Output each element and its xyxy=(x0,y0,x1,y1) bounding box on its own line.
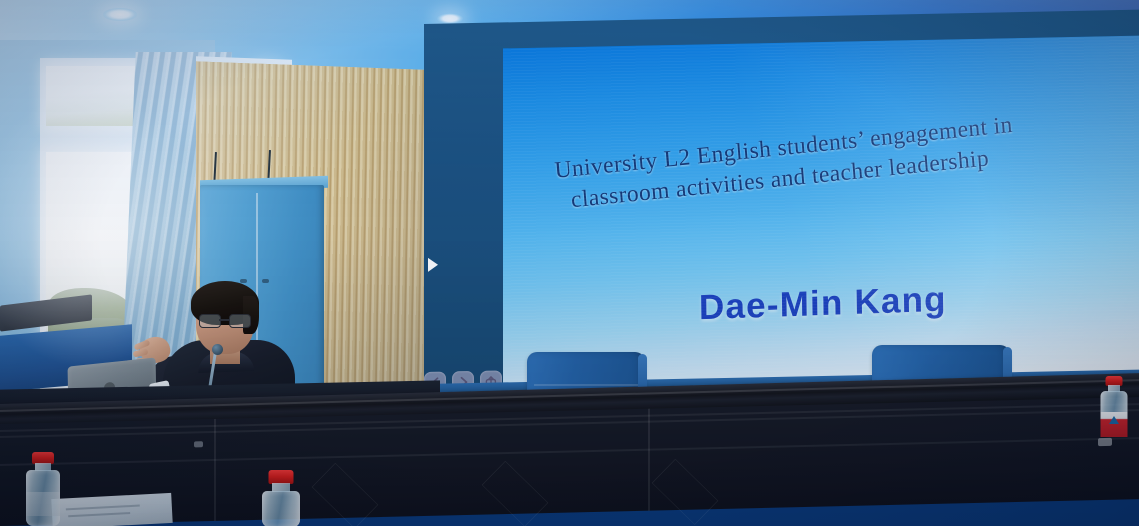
desk-diamond-1 xyxy=(312,463,378,526)
desk-groove-3 xyxy=(0,437,1139,466)
desk-diamond-2 xyxy=(482,461,548,526)
water-bottle-foreground-left[interactable] xyxy=(22,452,64,526)
window-pane-upper xyxy=(46,66,146,126)
bottle-brand-logo xyxy=(1109,416,1119,424)
paper-line-1 xyxy=(66,505,140,511)
bottle-label xyxy=(26,492,60,516)
ceiling-light-1 xyxy=(103,8,137,21)
slide-presenter-name: Dae-Min Kang xyxy=(699,280,947,328)
desk-label-plate xyxy=(1098,438,1112,446)
bottle-cap xyxy=(269,470,294,484)
desk-panel-seam-1 xyxy=(214,419,216,521)
water-bottle-foreground-mid[interactable] xyxy=(258,470,304,526)
glasses-lens-left xyxy=(199,314,221,328)
desk-diamond-3 xyxy=(652,459,718,525)
bottle-body xyxy=(262,491,300,526)
slide-title: University L2 English students’ engageme… xyxy=(553,100,1116,217)
chevron-right-icon[interactable] xyxy=(426,256,440,278)
paper-line-2 xyxy=(68,512,130,517)
desk-papers[interactable] xyxy=(51,493,172,526)
projection-screen-surface: University L2 English students’ engageme… xyxy=(503,36,1139,405)
cabinet-handle-right[interactable] xyxy=(262,279,269,283)
microphone-head xyxy=(212,344,223,355)
water-bottle-desk-right[interactable] xyxy=(1097,376,1131,438)
glasses-lens-right xyxy=(229,314,251,328)
cabinet-handle-left[interactable] xyxy=(240,279,247,283)
presenter-glasses xyxy=(199,314,249,326)
desk-cable-port xyxy=(194,441,203,447)
presentation-photo-scene: University L2 English students’ engageme… xyxy=(0,0,1139,526)
glasses-bridge xyxy=(219,319,229,321)
desk-panel-seam-2 xyxy=(648,409,650,511)
